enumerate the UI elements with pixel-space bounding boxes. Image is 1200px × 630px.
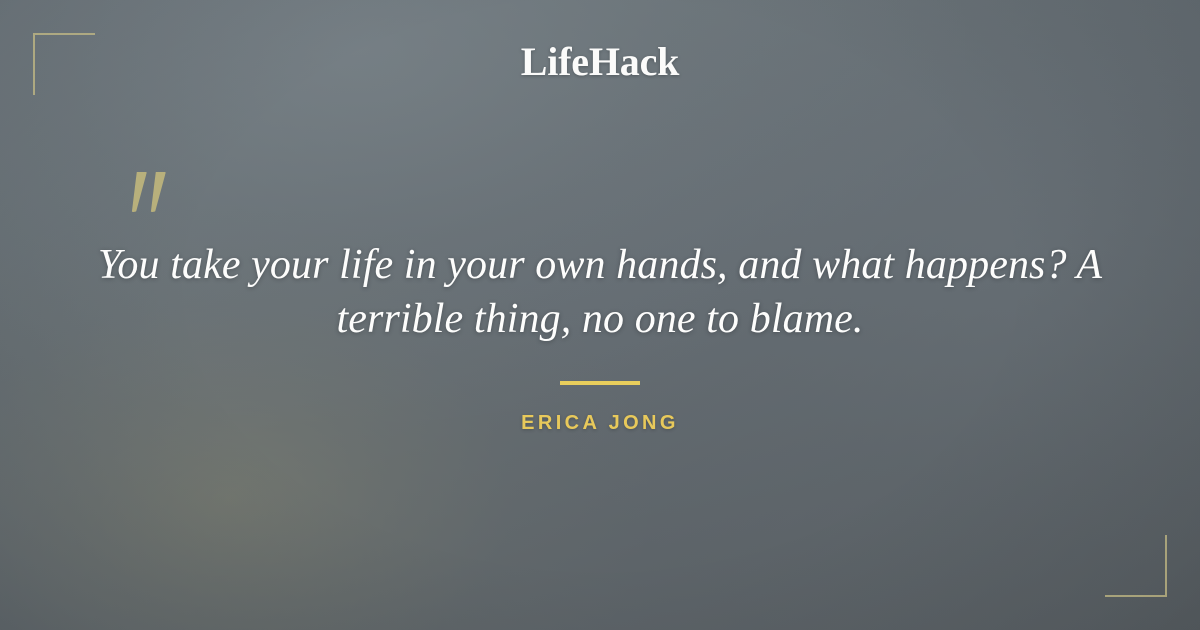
quote-mark-stroke-left xyxy=(128,172,147,212)
lifehack-logo[interactable]: LifeHack xyxy=(0,38,1200,85)
attribution-divider xyxy=(560,381,640,385)
quote-text: You take your life in your own hands, an… xyxy=(95,238,1105,346)
quote-mark-icon xyxy=(126,150,196,220)
corner-bracket-bottom-right-icon xyxy=(1105,535,1167,597)
quote-card-canvas: LifeHack You take your life in your own … xyxy=(0,0,1200,630)
corner-bracket-top-left-horizontal-arm xyxy=(33,33,95,35)
quote-mark-stroke-right xyxy=(147,172,166,212)
quote-author: ERICA JONG xyxy=(0,412,1200,435)
corner-bracket-bottom-right-vertical-arm xyxy=(1165,535,1167,597)
corner-bracket-bottom-right-horizontal-arm xyxy=(1105,595,1167,597)
